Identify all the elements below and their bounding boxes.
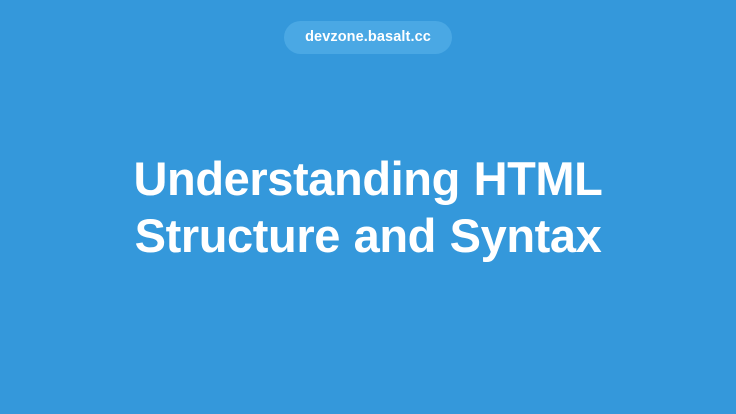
badge-row: devzone.basalt.cc: [0, 21, 736, 54]
page-title-line-2: Structure and Syntax: [58, 207, 678, 264]
headline-wrap: Understanding HTML Structure and Syntax: [0, 150, 736, 264]
site-domain-badge[interactable]: devzone.basalt.cc: [284, 21, 452, 54]
page-title: Understanding HTML Structure and Syntax: [58, 150, 678, 264]
social-share-card: devzone.basalt.cc Understanding HTML Str…: [0, 0, 736, 414]
page-title-line-1: Understanding HTML: [58, 150, 678, 207]
